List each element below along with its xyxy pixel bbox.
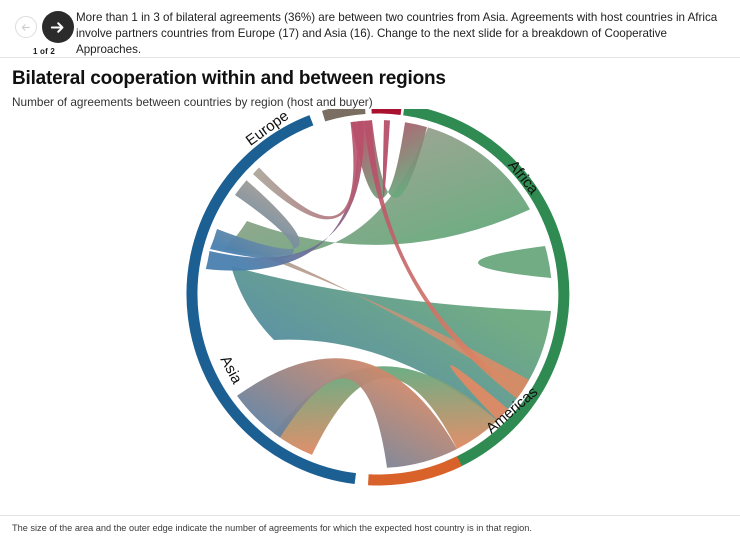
page-title: Bilateral cooperation within and between… [12, 68, 728, 90]
arrow-left-icon [20, 22, 31, 33]
ribbon-africa-africa[interactable] [478, 246, 551, 278]
previous-slide-button[interactable] [15, 16, 37, 38]
next-slide-button[interactable] [42, 11, 74, 43]
arrow-right-icon [49, 19, 66, 36]
chord-diagram-svg: Africa Americas Asia Europe Oceania [0, 109, 740, 494]
chord-root: Africa Americas Asia Europe Oceania [192, 109, 564, 480]
slide-navigation: 1 of 2 [12, 9, 76, 56]
arc-oceania[interactable] [372, 109, 402, 110]
chart-header: Bilateral cooperation within and between… [0, 58, 740, 109]
ribbon-oceania-oceania[interactable] [383, 120, 390, 197]
annotation-banner: 1 of 2 More than 1 in 3 of bilateral agr… [0, 0, 740, 58]
arc-label-asia: Asia [217, 353, 246, 387]
slide-counter: 1 of 2 [33, 47, 55, 56]
chart-footer: The size of the area and the outer edge … [0, 515, 740, 543]
nav-buttons [15, 11, 74, 43]
page-subtitle: Number of agreements between countries b… [12, 95, 728, 109]
annotation-text: More than 1 in 3 of bilateral agreements… [76, 9, 730, 57]
arc-europe[interactable] [324, 109, 366, 116]
chord-diagram: Africa Americas Asia Europe Oceania [0, 109, 740, 494]
footer-note: The size of the area and the outer edge … [12, 523, 728, 535]
